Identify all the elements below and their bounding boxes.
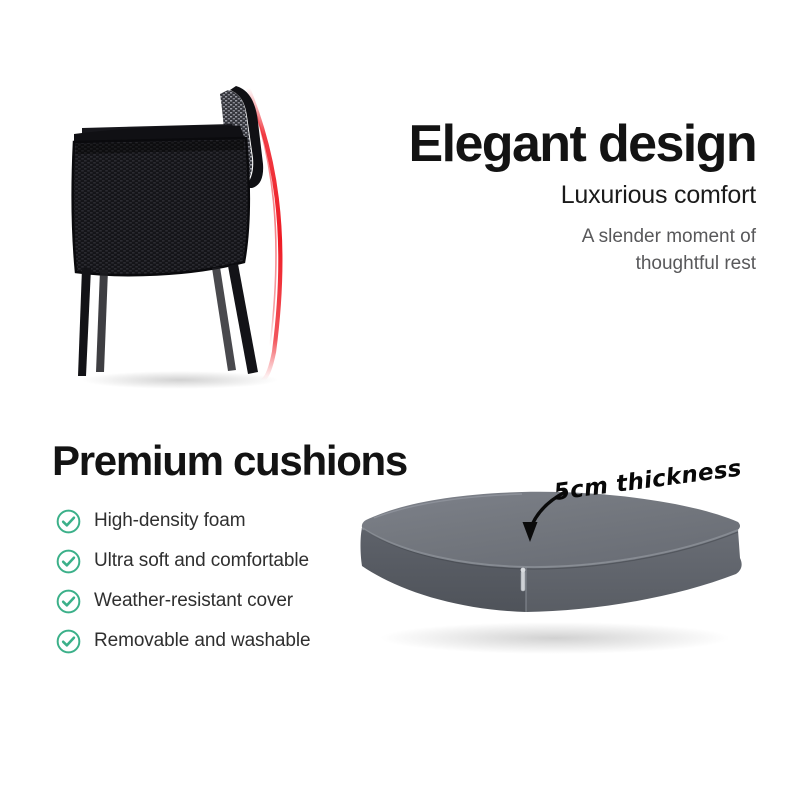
cushion-zipper-pull <box>521 571 525 591</box>
feature-list: High-density foam Ultra soft and comfort… <box>56 501 310 661</box>
list-item: Ultra soft and comfortable <box>56 541 310 581</box>
feature-label: Weather-resistant cover <box>94 590 293 612</box>
check-circle-icon <box>56 589 81 614</box>
feature-label: High-density foam <box>94 510 245 532</box>
chair-leg-front-right <box>96 270 108 372</box>
premium-cushions-panel: Premium cushions High-density foam Ultra… <box>0 400 800 800</box>
elegant-design-panel: Elegant design Luxurious comfort A slend… <box>0 0 800 400</box>
check-circle-icon <box>56 509 81 534</box>
subheadline-luxurious-comfort: Luxurious comfort <box>356 182 756 210</box>
check-circle-icon <box>56 629 81 654</box>
marketing-infographic: Elegant design Luxurious comfort A slend… <box>0 0 800 800</box>
cushion-product-image <box>340 470 770 730</box>
cushion-floor-shadow <box>380 622 730 654</box>
chair-leg-front-left <box>78 268 91 376</box>
elegant-design-text-block: Elegant design Luxurious comfort A slend… <box>356 118 756 277</box>
check-circle-icon <box>56 549 81 574</box>
headline-elegant-design: Elegant design <box>356 118 756 171</box>
list-item: Removable and washable <box>56 621 310 661</box>
blurb-text: A slender moment of thoughtful rest <box>356 224 756 278</box>
list-item: High-density foam <box>56 501 310 541</box>
feature-label: Removable and washable <box>94 630 310 652</box>
blurb-line-2: thoughtful rest <box>356 251 756 278</box>
blurb-line-1: A slender moment of <box>356 224 756 251</box>
list-item: Weather-resistant cover <box>56 581 310 621</box>
chair-woven-body <box>73 138 249 275</box>
feature-label: Ultra soft and comfortable <box>94 550 309 572</box>
armchair-product-image <box>60 80 360 400</box>
